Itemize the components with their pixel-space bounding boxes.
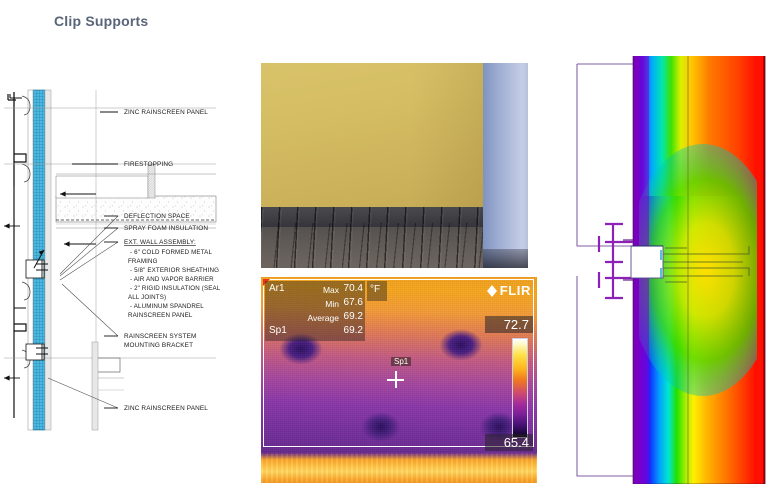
callout-mounting-bracket-1: RAINSCREEN SYSTEM bbox=[124, 333, 197, 340]
flir-thermal-image: Ar1 Max 70.4 Min 67.6 Average 69.2 Sp1 6… bbox=[261, 277, 537, 483]
spot-crosshair-icon bbox=[387, 371, 404, 388]
average-key: Average bbox=[277, 313, 339, 323]
max-key: Max bbox=[277, 285, 339, 295]
thermal-hot-band-noise bbox=[261, 453, 537, 483]
callout-firestopping: FIRESTOPPING bbox=[124, 161, 173, 168]
wall-section-detail: ZINC RAINSCREEN PANEL FIRESTOPPING DEFLE… bbox=[0, 78, 258, 478]
page-root: Clip Supports bbox=[0, 0, 774, 494]
photo-wall-shading bbox=[411, 63, 483, 209]
min-value: 67.6 bbox=[333, 297, 363, 308]
clip-bracket bbox=[599, 224, 633, 298]
callout-zinc-rainscreen-top: ZINC RAINSCREEN PANEL bbox=[124, 109, 208, 116]
min-key: Min bbox=[277, 299, 339, 309]
callout-zinc-rainscreen-bottom: ZINC RAINSCREEN PANEL bbox=[124, 405, 208, 412]
heat-flow-simulation bbox=[575, 56, 774, 484]
callout-assembly-line-2: FRAMING bbox=[128, 258, 158, 265]
flir-diamond-icon bbox=[487, 285, 497, 297]
spot-label: Sp1 bbox=[269, 325, 287, 336]
callout-spray-foam: SPRAY FOAM INSULATION bbox=[124, 225, 208, 232]
photo-column bbox=[483, 63, 528, 268]
photo-column-base bbox=[483, 249, 528, 268]
callout-deflection-space: DEFLECTION SPACE bbox=[124, 213, 190, 220]
callout-mounting-bracket-2: MOUNTING BRACKET bbox=[124, 342, 193, 349]
flir-logo: FLIR bbox=[487, 283, 531, 298]
temperature-unit: °F bbox=[370, 284, 380, 295]
temperature-unit-box: °F bbox=[367, 281, 387, 301]
thermal-readout-panel: Ar1 Max 70.4 Min 67.6 Average 69.2 Sp1 6… bbox=[265, 281, 365, 341]
average-value: 69.2 bbox=[333, 311, 363, 322]
callout-assembly-line-6: ALL JOINTS) bbox=[128, 294, 166, 301]
cavity-void bbox=[631, 246, 663, 278]
max-value: 70.4 bbox=[333, 283, 363, 294]
interior-wall-photo bbox=[261, 63, 528, 268]
spot-marker-label: Sp1 bbox=[391, 357, 411, 366]
callout-assembly-line-3: - 5/8" EXTERIOR SHEATHING bbox=[130, 267, 219, 274]
callout-assembly-line-5: - 2" RIGID INSULATION (SEAL bbox=[130, 285, 221, 292]
callout-assembly-line-8: RAINSCREEN PANEL bbox=[128, 312, 193, 319]
scale-max-value: 72.7 bbox=[485, 316, 533, 333]
flir-wordmark: FLIR bbox=[500, 283, 531, 298]
page-title: Clip Supports bbox=[54, 13, 148, 29]
callout-assembly-line-4: - AIR AND VAPOR BARRIER bbox=[130, 276, 214, 283]
spot-value: 69.2 bbox=[333, 325, 363, 336]
thermal-colorbar bbox=[512, 338, 528, 438]
scale-min-value: 65.4 bbox=[485, 434, 533, 451]
callout-assembly-line-1: - 6" COLD FORMED METAL bbox=[130, 249, 212, 256]
callout-ext-wall-assembly: EXT. WALL ASSEMBLY: bbox=[124, 239, 196, 246]
callout-assembly-line-7: - ALUMINUM SPANDREL bbox=[130, 303, 204, 310]
photo-floor-planks-lower bbox=[261, 223, 483, 268]
